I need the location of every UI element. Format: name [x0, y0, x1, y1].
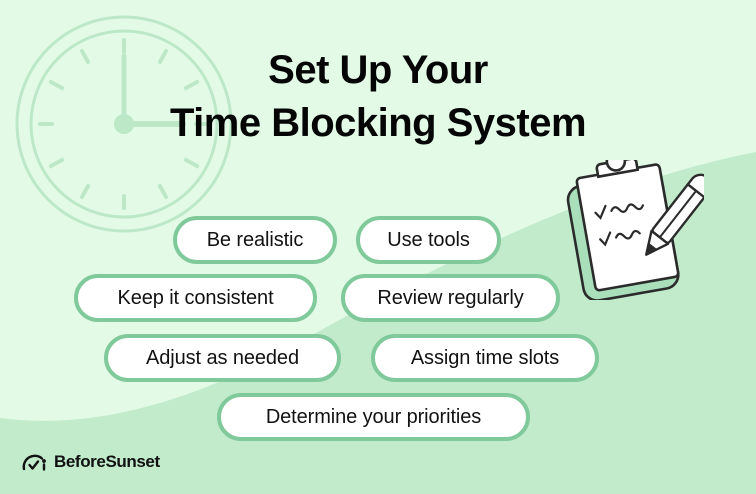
pill-label: Adjust as needed [146, 347, 299, 370]
pill-review-regularly[interactable]: Review regularly [341, 274, 560, 322]
pill-label: Review regularly [377, 287, 523, 310]
infographic-canvas: Set Up Your Time Blocking System Be real… [0, 0, 756, 494]
pill-label: Assign time slots [411, 347, 559, 370]
pill-keep-it-consistent[interactable]: Keep it consistent [74, 274, 317, 322]
brand-logo[interactable]: BeforeSunset [22, 452, 160, 472]
pill-label: Keep it consistent [117, 287, 273, 310]
pill-assign-time-slots[interactable]: Assign time slots [371, 334, 599, 382]
pill-label: Determine your priorities [266, 406, 481, 429]
page-title: Set Up Your Time Blocking System [0, 44, 756, 150]
brand-logo-text: BeforeSunset [54, 452, 160, 472]
clipboard-illustration [556, 160, 704, 300]
beforesunset-arc-check-icon [22, 452, 48, 472]
pill-label: Use tools [387, 229, 469, 252]
title-line-1: Set Up Your [0, 44, 756, 97]
pill-use-tools[interactable]: Use tools [356, 216, 501, 264]
pill-be-realistic[interactable]: Be realistic [173, 216, 337, 264]
pill-determine-your-priorities[interactable]: Determine your priorities [217, 393, 530, 441]
title-line-2: Time Blocking System [0, 97, 756, 150]
pill-label: Be realistic [207, 229, 304, 252]
pill-adjust-as-needed[interactable]: Adjust as needed [104, 334, 341, 382]
